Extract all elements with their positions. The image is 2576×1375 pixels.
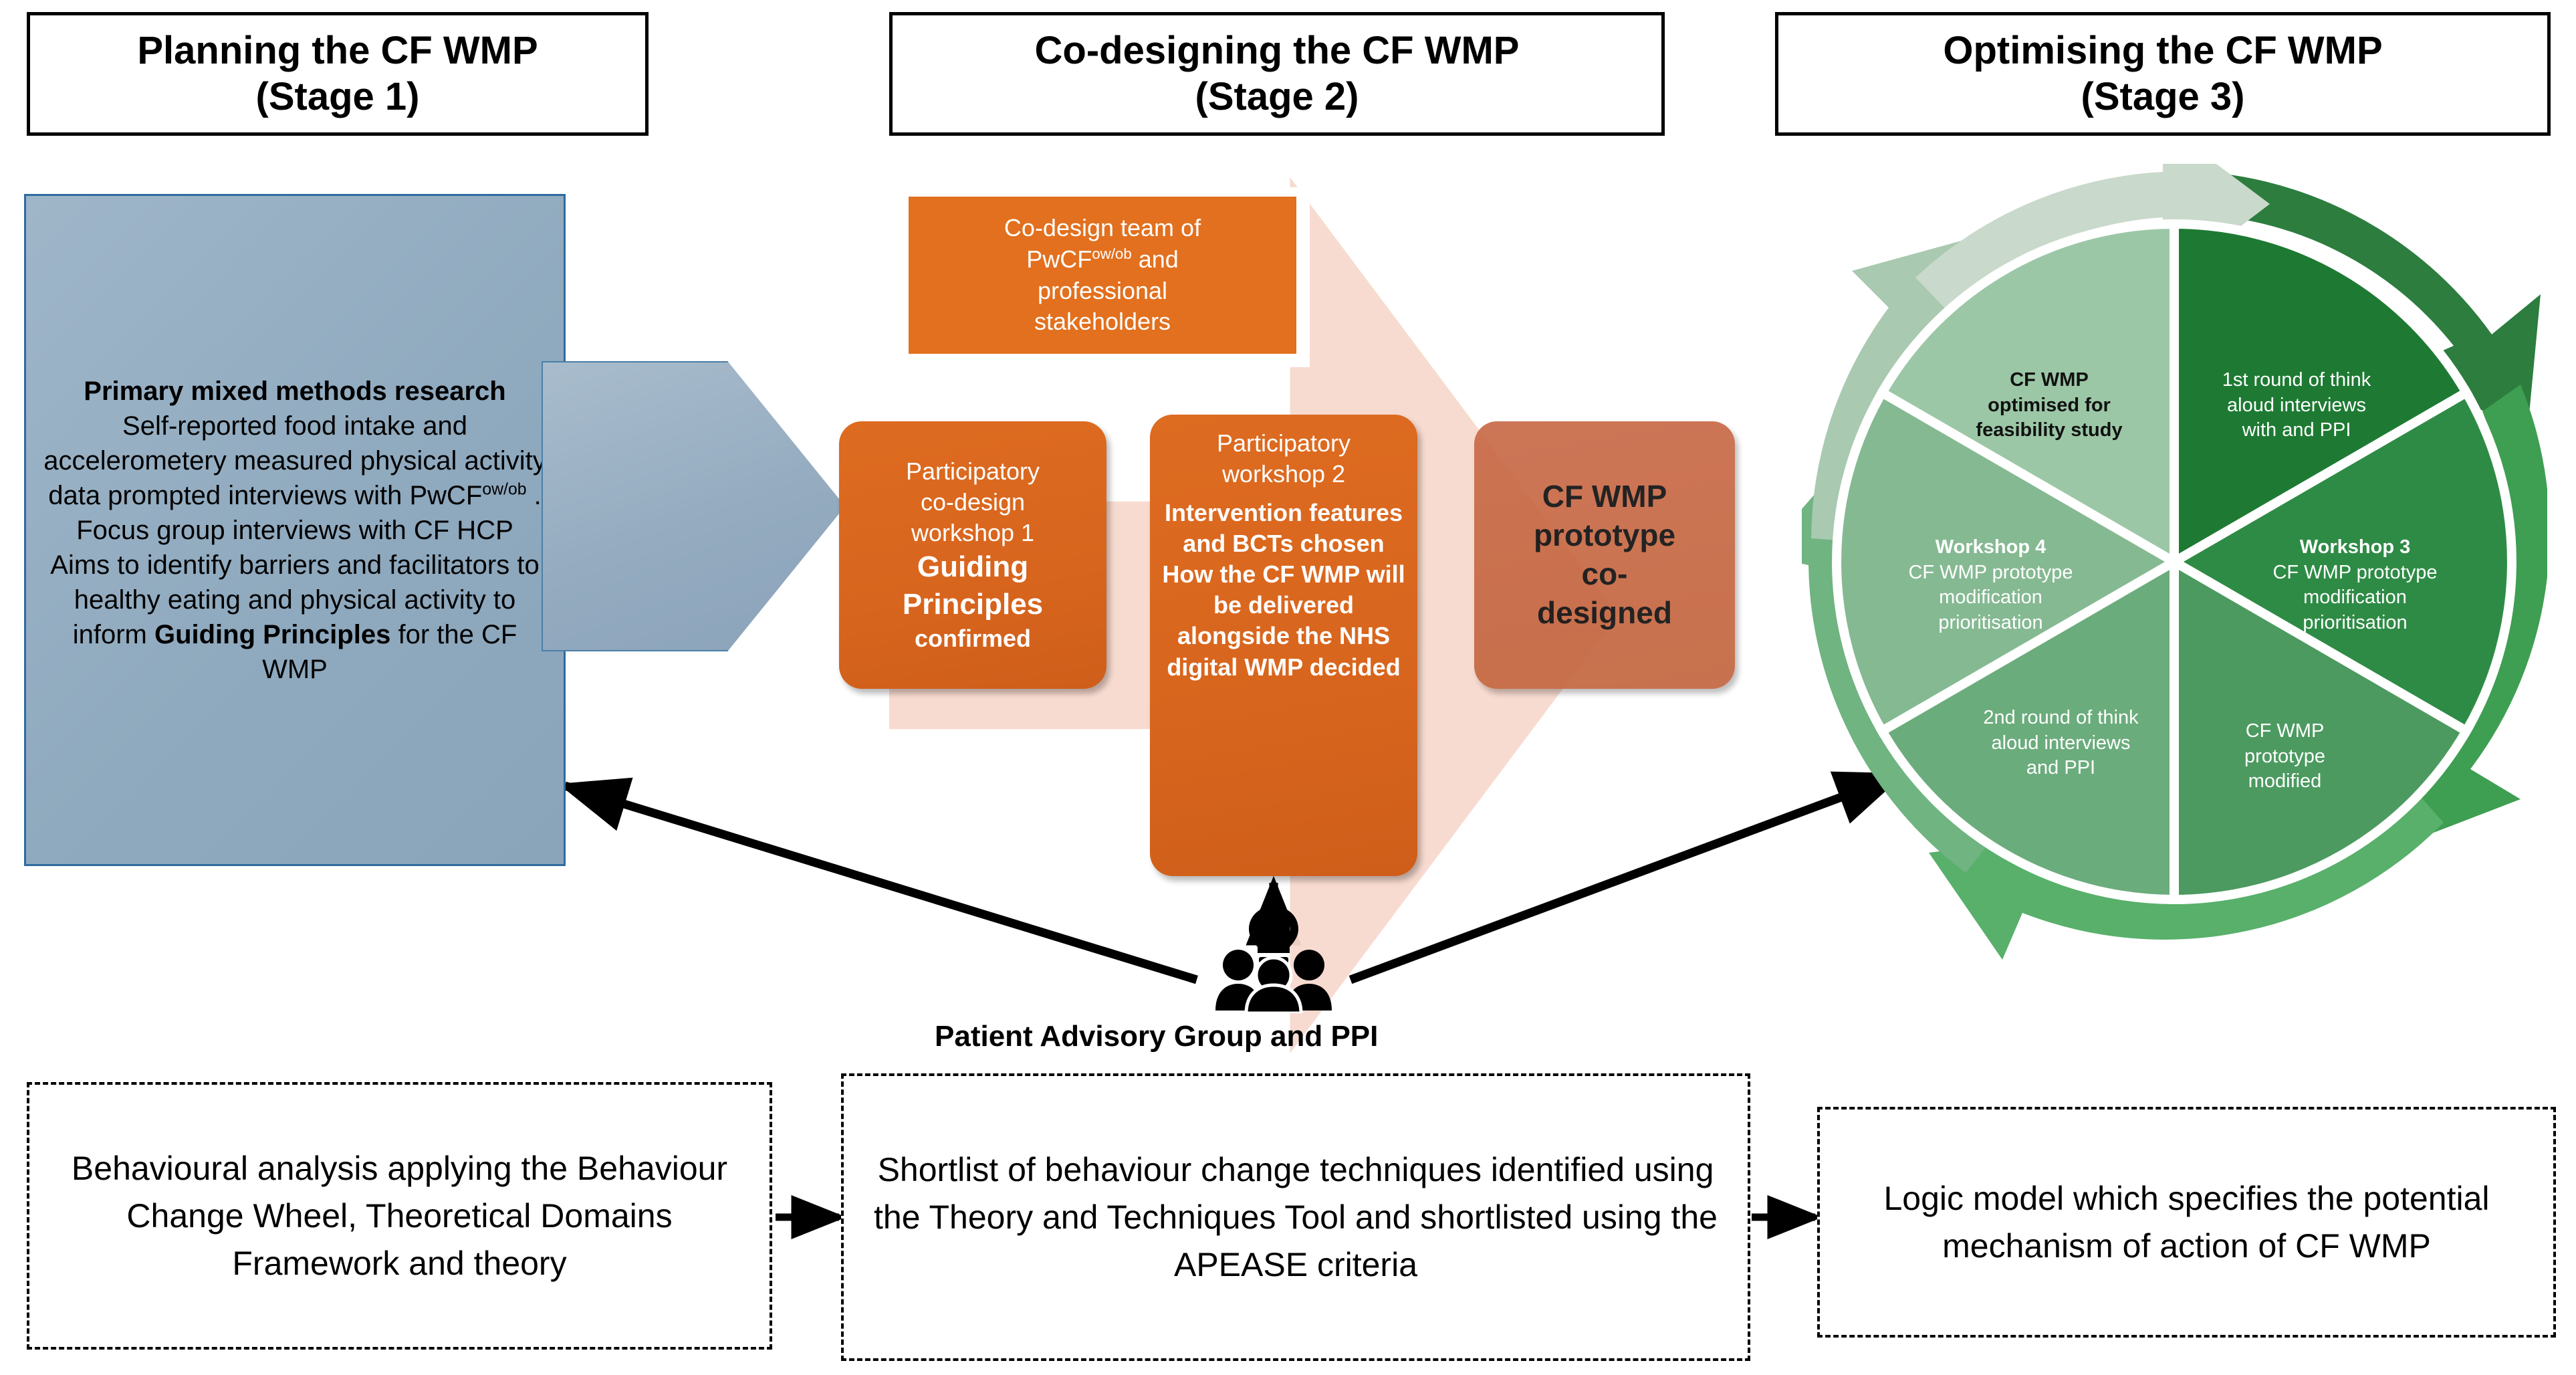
team-line2-pre: PwCF bbox=[1026, 245, 1092, 273]
bottom-box-behavioural-analysis: Behavioural analysis applying the Behavi… bbox=[27, 1082, 772, 1350]
arrow-stage1-to-stage2 bbox=[542, 361, 845, 651]
pag-label: Patient Advisory Group and PPI bbox=[935, 1020, 1378, 1053]
team-line2-post: and bbox=[1132, 245, 1179, 273]
stage1-line1-sup: ow/ob bbox=[482, 480, 526, 498]
stage2-prototype-codesigned-box: CF WMP prototype co- designed bbox=[1474, 421, 1735, 689]
stage3-optimisation-wheel: CF WMP optimised for feasibility study 1… bbox=[1802, 164, 2547, 960]
figure-canvas: Planning the CF WMP (Stage 1) Co-designi… bbox=[0, 0, 2576, 1375]
w1-line2: co-design bbox=[921, 488, 1025, 516]
w1-line1: Participatory bbox=[906, 457, 1040, 485]
bottom-box-2-text: Shortlist of behaviour change techniques… bbox=[861, 1146, 1730, 1289]
w1-confirmed: confirmed bbox=[915, 625, 1031, 652]
people-group-icon bbox=[1215, 950, 1332, 1013]
stage-header-3: Optimising the CF WMP (Stage 3) bbox=[1775, 12, 2551, 136]
stage1-line2: Focus group interviews with CF HCP bbox=[76, 516, 513, 545]
stage2-workshop2-box: Participatory workshop 2 Intervention fe… bbox=[1150, 415, 1417, 876]
w1-principles: Principles bbox=[903, 588, 1043, 621]
stage2-title-line1: Co-designing the CF WMP bbox=[1035, 28, 1520, 74]
proto-line3: co- bbox=[1581, 556, 1627, 591]
team-line3: professional bbox=[1038, 277, 1167, 304]
team-line4: stakeholders bbox=[1034, 308, 1171, 335]
team-line1: Co-design team of bbox=[1004, 214, 1201, 241]
w1-guiding: Guiding bbox=[917, 550, 1028, 583]
w2-body: Intervention features and BCTs chosen Ho… bbox=[1159, 498, 1408, 682]
stage1-primary-research-box: Primary mixed methods research Self-repo… bbox=[24, 194, 566, 866]
stage2-workshop1-box: Participatory co-design workshop 1 Guidi… bbox=[839, 421, 1106, 689]
bottom-box-3-text: Logic model which specifies the potentia… bbox=[1837, 1175, 2536, 1270]
w1-line3: workshop 1 bbox=[911, 519, 1034, 546]
bottom-box-logic-model: Logic model which specifies the potentia… bbox=[1817, 1107, 2556, 1338]
proto-line4: designed bbox=[1537, 595, 1672, 630]
stage1-guiding-principles: Guiding Principles bbox=[154, 620, 390, 649]
stage3-title-line1: Optimising the CF WMP bbox=[1943, 28, 2382, 74]
stage1-title-line2: (Stage 1) bbox=[256, 74, 420, 120]
w2-line2: workshop 2 bbox=[1222, 460, 1345, 488]
stage1-title-line1: Planning the CF WMP bbox=[137, 28, 538, 74]
stage1-line1-tail: . bbox=[527, 481, 542, 510]
pag-icon-group bbox=[1190, 879, 1357, 1013]
team-line2-sup: ow/ob bbox=[1092, 245, 1132, 262]
proto-line2: prototype bbox=[1534, 518, 1675, 552]
bottom-box-bct-shortlist: Shortlist of behaviour change techniques… bbox=[841, 1073, 1750, 1361]
w2-line1: Participatory bbox=[1217, 429, 1351, 457]
arrow-pag-to-stage1 bbox=[565, 786, 1197, 980]
stage1-line1: Self-reported food intake and accelerome… bbox=[43, 411, 546, 510]
stage-header-1: Planning the CF WMP (Stage 1) bbox=[27, 12, 649, 136]
stage-header-2: Co-designing the CF WMP (Stage 2) bbox=[889, 12, 1665, 136]
bottom-box-1-text: Behavioural analysis applying the Behavi… bbox=[47, 1145, 752, 1287]
stage3-title-line2: (Stage 3) bbox=[2081, 74, 2245, 120]
stage1-heading: Primary mixed methods research bbox=[84, 377, 505, 406]
stage2-title-line2: (Stage 2) bbox=[1195, 74, 1359, 120]
proto-line1: CF WMP bbox=[1542, 479, 1667, 514]
stage2-codesign-team-box: Co-design team of PwCFow/ob and professi… bbox=[899, 187, 1306, 363]
wheel-segments bbox=[1837, 224, 2512, 900]
